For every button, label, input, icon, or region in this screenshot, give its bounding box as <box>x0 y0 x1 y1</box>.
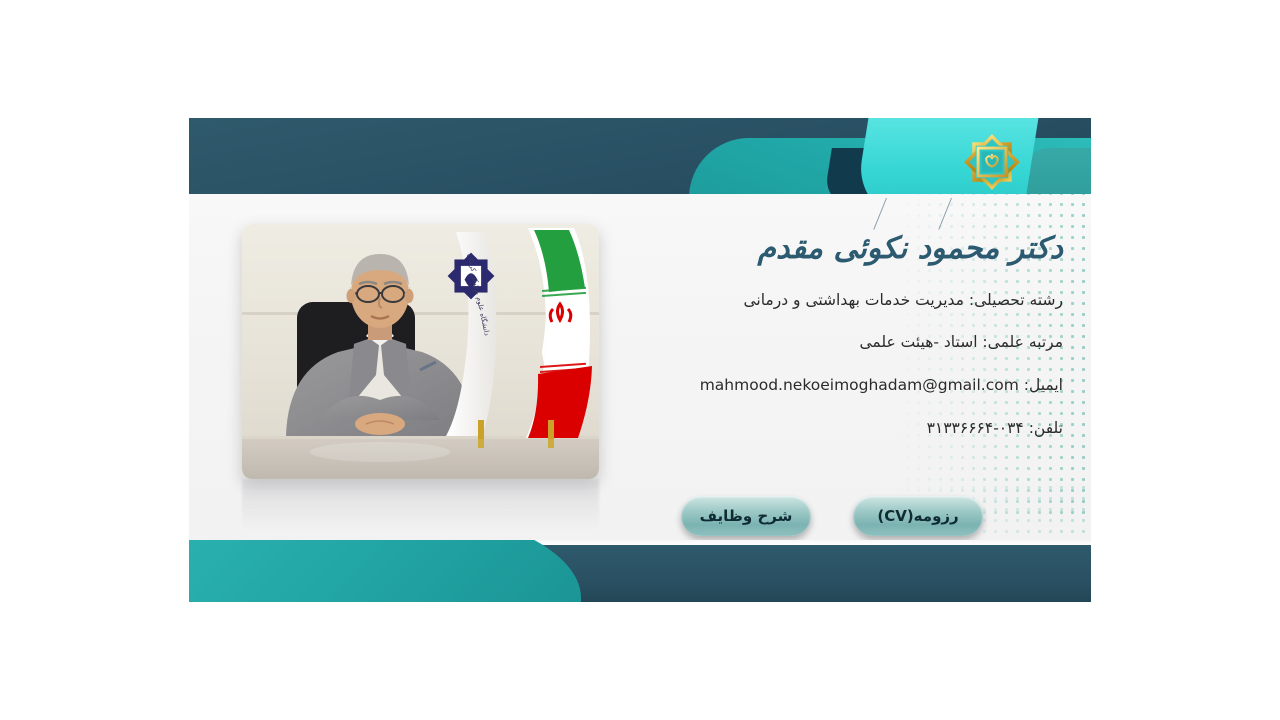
profile-photo-image: دانشگاه علوم پزشکی کرمان <box>242 224 599 479</box>
duties-button[interactable]: شرح وظایف <box>681 496 811 536</box>
info-line-field-of-study: رشته تحصیلی: مدیریت خدمات بهداشتی و درما… <box>593 290 1063 311</box>
page-title: دکتر محمود نکوئی مقدم <box>593 230 1063 268</box>
footer-teal-wedge <box>189 540 581 602</box>
eight-pointed-star-emblem-icon <box>963 133 1021 191</box>
card-footer <box>189 540 1091 602</box>
info-line-phone: تلفن: ۰۳۴-۳۱۳۳۶۶۶۴ <box>593 418 1063 439</box>
action-buttons: رزومه(CV) شرح وظایف <box>681 496 983 536</box>
page-root: دانشگاه علوم پزشکی کرمان <box>0 0 1280 720</box>
card-header <box>189 118 1091 194</box>
profile-photo: دانشگاه علوم پزشکی کرمان <box>242 224 599 479</box>
info-line-email: ایمیل: mahmood.nekoeimoghadam@gmail.com <box>593 375 1063 396</box>
profile-info: دکتر محمود نکوئی مقدم رشته تحصیلی: مدیری… <box>593 230 1063 439</box>
profile-card: دانشگاه علوم پزشکی کرمان <box>189 118 1091 602</box>
cv-button[interactable]: رزومه(CV) <box>853 496 983 536</box>
info-line-academic-rank: مرتبه علمی: استاد -هیئت علمی <box>593 332 1063 353</box>
email-label: ایمیل: <box>1024 376 1063 394</box>
email-value: mahmood.nekoeimoghadam@gmail.com <box>700 375 1019 396</box>
